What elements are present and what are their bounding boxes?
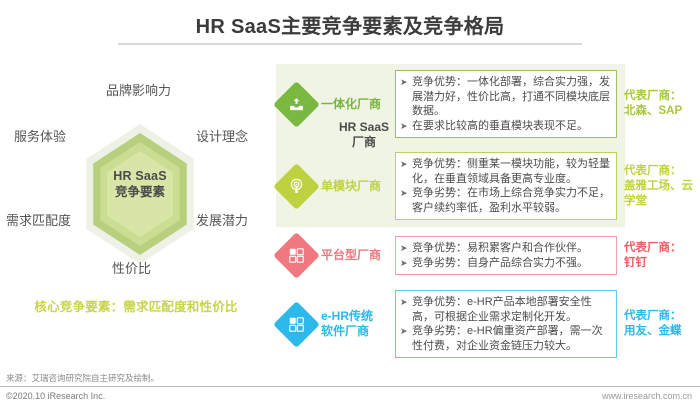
website-link[interactable]: www.iresearch.com.cn — [602, 391, 692, 401]
vendor-detail-box-ehr-legacy: ➤ 竞争优势：e-HR产品本地部署安全性高，可根据企业需求定制化开发。 ➤ 竞争… — [395, 290, 617, 358]
inbox-upload-icon — [273, 81, 320, 128]
bullet-text: 竞争优势：侧重某一模块功能，较为轻量化，在垂直领域具备更高专业度。 — [412, 157, 611, 186]
bullet-text: 竞争优势：e-HR产品本地部署安全性高，可根据企业需求定制化开发。 — [412, 295, 611, 324]
vendor-detail-box-single-module: ➤ 竞争优势：侧重某一模块功能，较为轻量化，在垂直领域具备更高专业度。 ➤ 竞争… — [395, 152, 617, 220]
bullet-arrow-icon: ➤ — [400, 324, 412, 353]
bullet-item: ➤ 竞争优势：e-HR产品本地部署安全性高，可根据企业需求定制化开发。 — [400, 295, 611, 324]
vendor-category-integrated: 一体化厂商 — [321, 97, 391, 112]
bullet-arrow-icon: ➤ — [400, 295, 412, 324]
grid-squares-icon — [273, 232, 320, 279]
vendor-detail-box-platform: ➤ 竞争优势：易积累客户和合作伙伴。 ➤ 竞争劣势：自身产品综合实力不强。 — [395, 236, 617, 275]
bullet-arrow-icon: ➤ — [400, 241, 412, 256]
hexagon-label-potential: 发展潜力 — [196, 210, 248, 229]
vendor-row-ehr-legacy: e-HR传统 软件厂商 ➤ 竞争优势：e-HR产品本地部署安全性高，可根据企业需… — [280, 290, 700, 358]
bullet-text: 竞争优势：易积累客户和合作伙伴。 — [412, 241, 611, 256]
vendor-category-single-module: 单模块厂商 — [321, 179, 391, 194]
hexagon-label-design: 设计理念 — [196, 126, 248, 145]
bullet-text: 竞争劣势：在市场上综合竞争实力不足，客户续约率低，盈利水平较弱。 — [412, 186, 611, 215]
bullet-item: ➤ 竞争劣势：e-HR偏重资产部署，需一次性付费，对企业资金链压力较大。 — [400, 324, 611, 353]
hexagon-center-line2: 竞争要素 — [94, 184, 186, 200]
bullet-text: 竞争优势：一体化部署，综合实力强，发展潜力好，性价比高，打通不同模块底层数据。 — [412, 75, 611, 119]
footer-divider — [0, 386, 700, 387]
inbox-upload-glyph — [280, 88, 313, 121]
title-divider — [118, 43, 582, 45]
hexagon-diagram: HR SaaS 竞争要素 品牌影响力 服务体验 设计理念 需求匹配度 发展潜力 … — [0, 58, 272, 328]
representative-vendors-platform: 代表厂商： 钉钉 — [624, 241, 682, 271]
rep-title: 代表厂商： — [624, 89, 682, 104]
hexagon-label-service: 服务体验 — [14, 126, 66, 145]
rep-value: 北森、SAP — [624, 104, 682, 119]
vendor-detail-box-integrated: ➤ 竞争优势：一体化部署，综合实力强，发展潜力好，性价比高，打通不同模块底层数据… — [395, 70, 617, 138]
bullet-item: ➤ 竞争劣势：自身产品综合实力不强。 — [400, 256, 611, 271]
copyright-note: ©2020.10 iResearch Inc. — [6, 391, 105, 401]
grid-squares-glyph — [280, 308, 313, 341]
representative-vendors-integrated: 代表厂商： 北森、SAP — [624, 89, 682, 119]
rep-value: 钉钉 — [624, 256, 682, 271]
bullet-text: 竞争劣势：自身产品综合实力不强。 — [412, 256, 611, 271]
vendor-row-platform: 平台型厂商 ➤ 竞争优势：易积累客户和合作伙伴。 ➤ 竞争劣势：自身产品综合实力… — [280, 236, 700, 275]
broadcast-signal-glyph — [280, 170, 313, 203]
bullet-item: ➤ 在要求比较高的垂直模块表现不足。 — [400, 119, 611, 134]
vendor-category-ehr-legacy: e-HR传统 软件厂商 — [321, 309, 391, 339]
hexagon-center-text: HR SaaS 竞争要素 — [94, 168, 186, 200]
bullet-item: ➤ 竞争劣势：在市场上综合竞争实力不足，客户续约率低，盈利水平较弱。 — [400, 186, 611, 215]
bullet-arrow-icon: ➤ — [400, 75, 412, 119]
hexagon-label-price: 性价比 — [112, 258, 151, 277]
hexagon-center-line1: HR SaaS — [94, 168, 186, 184]
source-note: 来源：艾瑞咨询研究院自主研究及绘制。 — [6, 372, 159, 384]
bullet-arrow-icon: ➤ — [400, 119, 412, 134]
hexagon-label-demand: 需求匹配度 — [6, 210, 71, 229]
rep-title: 代表厂商： — [624, 309, 682, 324]
hexagon-label-brand: 品牌影响力 — [106, 80, 171, 99]
bullet-arrow-icon: ➤ — [400, 186, 412, 215]
vendor-category-line2: 软件厂商 — [321, 324, 391, 339]
grid-squares-icon — [273, 301, 320, 348]
bullet-arrow-icon: ➤ — [400, 157, 412, 186]
bullet-item: ➤ 竞争优势：一体化部署，综合实力强，发展潜力好，性价比高，打通不同模块底层数据… — [400, 75, 611, 119]
representative-vendors-single-module: 代表厂商： 盖雅工场、云学堂 — [624, 164, 696, 209]
representative-vendors-ehr-legacy: 代表厂商： 用友、金蝶 — [624, 309, 682, 339]
bullet-text: 竞争劣势：e-HR偏重资产部署，需一次性付费，对企业资金链压力较大。 — [412, 324, 611, 353]
vendor-category-platform: 平台型厂商 — [321, 248, 391, 263]
bullet-text: 在要求比较高的垂直模块表现不足。 — [412, 119, 611, 134]
grid-squares-glyph — [280, 239, 313, 272]
page-title: HR SaaS主要竞争要素及竞争格局 — [0, 10, 700, 39]
bullet-item: ➤ 竞争优势：易积累客户和合作伙伴。 — [400, 241, 611, 256]
vendor-row-integrated: 一体化厂商 ➤ 竞争优势：一体化部署，综合实力强，发展潜力好，性价比高，打通不同… — [280, 70, 700, 138]
broadcast-signal-icon — [273, 163, 320, 210]
bullet-arrow-icon: ➤ — [400, 256, 412, 271]
rep-value: 用友、金蝶 — [624, 324, 682, 339]
rep-value: 盖雅工场、云学堂 — [624, 179, 696, 209]
bullet-item: ➤ 竞争优势：侧重某一模块功能，较为轻量化，在垂直领域具备更高专业度。 — [400, 157, 611, 186]
core-factors-note: 核心竞争要素：需求匹配度和性价比 — [0, 296, 272, 315]
vendor-row-single-module: 单模块厂商 ➤ 竞争优势：侧重某一模块功能，较为轻量化，在垂直领域具备更高专业度… — [280, 152, 700, 220]
rep-title: 代表厂商： — [624, 241, 682, 256]
rep-title: 代表厂商： — [624, 164, 696, 179]
vendor-category-line1: e-HR传统 — [321, 309, 391, 324]
